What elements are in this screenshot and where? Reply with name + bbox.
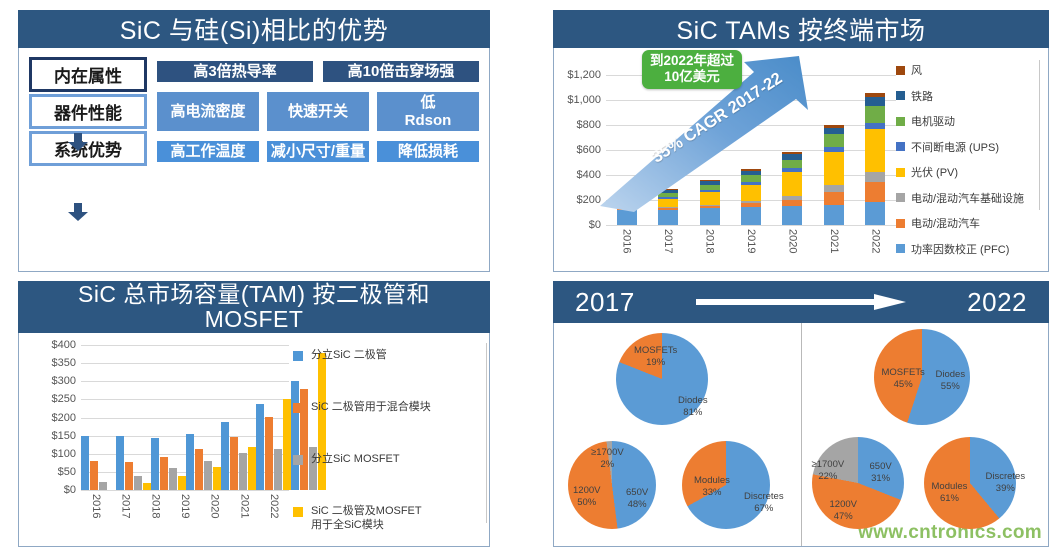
legend-label: SiC 二极管用于混合模块	[311, 401, 431, 415]
panel-market-split-pies: 2017 2022 Diodes 81%MOSFETs 19%650V 48%1…	[553, 281, 1049, 547]
x-axis-tick-label: 2017	[120, 494, 132, 518]
pie-slice-label: 1200V 47%	[830, 499, 857, 523]
pies-2022: www.cntronics.com Diodes 55%MOSFETs 45%6…	[801, 323, 1049, 546]
legend-swatch	[293, 455, 303, 465]
legend-item: 不间断电源 (UPS)	[896, 139, 1044, 155]
legend-label: 电机驱动	[911, 113, 955, 129]
right-arrow-icon	[696, 294, 906, 310]
legend-swatch	[896, 66, 905, 75]
attr-row-intrinsic: 高3倍热导率 高10倍击穿场强	[157, 56, 479, 87]
y-axis-tick-label: $250	[52, 393, 76, 405]
legend-item: SiC 二极管及MOSFET 用于全SiC模块	[293, 505, 483, 557]
legend-swatch	[896, 244, 905, 253]
legend-item: 电动/混动汽车	[896, 215, 1044, 231]
legend-swatch	[896, 193, 905, 202]
y-axis-tick-label: $150	[52, 430, 76, 442]
stacked-bar-chart: $0$200$400$600$800$1,000$1,2002016201720…	[554, 48, 1048, 271]
legend-swatch	[896, 117, 905, 126]
x-axis-tick-label: 2016	[621, 229, 633, 253]
attr-box-low-rdson: 低 Rdson	[377, 92, 479, 131]
chart-legend: 分立SiC 二极管SiC 二极管用于混合模块分立SiC MOSFETSiC 二极…	[293, 349, 483, 557]
y-axis-tick-label: $800	[577, 119, 601, 131]
pies-2017: Diodes 81%MOSFETs 19%650V 48%1200V 50%≥1…	[554, 323, 801, 546]
y-axis-tick-label: $1,000	[567, 94, 601, 106]
attr-row-system: 高工作温度 减小尺寸/重量 降低损耗	[157, 136, 479, 167]
panel-tam-endmarket-title: SiC TAMs 按终端市场	[553, 10, 1049, 48]
x-axis-tick-label: 2022	[268, 494, 280, 518]
y-axis-tick-label: $50	[58, 466, 76, 478]
attr-box-breakdown-field: 高10倍击穿场强	[323, 61, 479, 82]
panel-tam-by-end-market: SiC TAMs 按终端市场 $0$200$400$600$800$1,000$…	[553, 10, 1049, 272]
watermark: www.cntronics.com	[858, 522, 1042, 544]
pie-slice-label: MOSFETs 19%	[634, 345, 677, 369]
callout-badge: 到2022年超过 10亿美元	[642, 50, 742, 89]
legend-item: 电机驱动	[896, 113, 1044, 129]
gridline	[606, 225, 896, 226]
stage-box-device: 器件性能	[29, 94, 147, 129]
attr-box-lower-loss: 降低损耗	[377, 141, 479, 162]
plot-area: $0$50$100$150$200$250$300$350$4002016201…	[81, 345, 289, 490]
legend-label: 风	[911, 62, 922, 78]
y-axis-tick-label: $350	[52, 357, 76, 369]
legend-swatch	[293, 351, 303, 361]
y-axis-tick-label: $0	[589, 219, 601, 231]
slide-collage: SiC 与硅(Si)相比的优势 内在属性 器件性能 系统优势 高3倍	[0, 0, 1061, 557]
legend-swatch	[896, 219, 905, 228]
legend-label: 不间断电源 (UPS)	[911, 139, 999, 155]
panel-pies-body: Diodes 81%MOSFETs 19%650V 48%1200V 50%≥1…	[553, 323, 1049, 547]
pie-slice-label: Discretes 67%	[744, 491, 784, 515]
down-arrow-icon	[67, 133, 89, 151]
y-axis-tick-label: $200	[577, 194, 601, 206]
pie-slice-label: Discretes 39%	[986, 471, 1026, 495]
y-axis-tick-label: $600	[577, 144, 601, 156]
attributes-column: 高3倍热导率 高10倍击穿场强 高电流密度 快速开关 低 Rdson 高工作温度…	[157, 56, 479, 167]
x-axis-tick-label: 2016	[90, 494, 102, 518]
stage-cell-1: 内在属性	[29, 56, 147, 93]
legend-item: 分立SiC 二极管	[293, 349, 483, 401]
y-axis-tick-label: $400	[577, 169, 601, 181]
legend-label: 电动/混动汽车	[911, 215, 980, 231]
year-label-right: 2022	[967, 287, 1027, 318]
legend-label: 分立SiC 二极管	[311, 349, 387, 363]
pie-slice-label: 1200V 50%	[573, 485, 600, 509]
legend-item: 铁路	[896, 88, 1044, 104]
legend-item: 分立SiC MOSFET	[293, 453, 483, 505]
panel-tam-diode-mosfet: SiC 总市场容量(TAM) 按二极管和 MOSFET $0$50$100$15…	[18, 281, 490, 547]
legend-swatch	[293, 507, 303, 517]
panel-sic-advantages: SiC 与硅(Si)相比的优势 内在属性 器件性能 系统优势 高3倍	[18, 10, 490, 272]
x-axis-tick-label: 2017	[662, 229, 674, 253]
pie-slice-label: Modules 61%	[932, 481, 968, 505]
pie-slice-label: Modules 33%	[694, 475, 730, 499]
x-axis-tick-label: 2020	[209, 494, 221, 518]
attr-box-thermal-conductivity: 高3倍热导率	[157, 61, 313, 82]
legend-item: 风	[896, 62, 1044, 78]
pie-slice-label: Diodes 55%	[936, 369, 966, 393]
pie-slice-label: 650V 31%	[870, 461, 892, 485]
attr-box-size-weight: 减小尺寸/重量	[267, 141, 369, 162]
y-axis-tick-label: $400	[52, 339, 76, 351]
panel-tam-diode-title: SiC 总市场容量(TAM) 按二极管和 MOSFET	[18, 281, 490, 333]
stage-box-intrinsic: 内在属性	[29, 57, 147, 92]
legend-label: 电动/混动汽车基础设施	[911, 190, 1024, 206]
attr-row-device: 高电流密度 快速开关 低 Rdson	[157, 87, 479, 136]
legend-swatch	[896, 168, 905, 177]
panel-advantages-title: SiC 与硅(Si)相比的优势	[18, 10, 490, 48]
legend-label: 分立SiC MOSFET	[311, 453, 400, 467]
legend-item: 电动/混动汽车基础设施	[896, 190, 1044, 206]
x-axis: 2016201720182019202020212022	[81, 345, 289, 490]
legend-item: SiC 二极管用于混合模块	[293, 401, 483, 453]
panel-tam-diode-body: $0$50$100$150$200$250$300$350$4002016201…	[18, 333, 490, 547]
pie-slice-label: MOSFETs 45%	[882, 367, 925, 391]
legend-label: 光伏 (PV)	[911, 164, 958, 180]
y-axis-tick-label: $200	[52, 412, 76, 424]
attr-box-current-density: 高电流密度	[157, 92, 259, 131]
pie-slice-label: ≥1700V 22%	[812, 459, 845, 483]
legend-item: 功率因数校正 (PFC)	[896, 241, 1044, 257]
attr-box-fast-switching: 快速开关	[267, 92, 369, 131]
y-axis-tick-label: $0	[64, 484, 76, 496]
x-axis-tick-label: 2021	[238, 494, 250, 518]
panel-tam-endmarket-body: $0$200$400$600$800$1,000$1,2002016201720…	[553, 48, 1049, 272]
pie-slice-label: ≥1700V 2%	[591, 447, 624, 471]
gridline	[81, 490, 289, 491]
legend-swatch	[896, 142, 905, 151]
x-axis-tick-label: 2020	[786, 229, 798, 253]
legend-label: SiC 二极管及MOSFET 用于全SiC模块	[311, 505, 422, 533]
x-axis-tick-label: 2021	[828, 229, 840, 253]
legend-swatch	[293, 403, 303, 413]
x-axis-tick-label: 2018	[704, 229, 716, 253]
stage-cell-2: 器件性能	[29, 93, 147, 130]
legend-divider	[486, 343, 487, 523]
legend-label: 铁路	[911, 88, 933, 104]
x-axis-tick-label: 2018	[149, 494, 161, 518]
pie-slice-label: 650V 48%	[626, 487, 648, 511]
y-axis-tick-label: $1,200	[567, 69, 601, 81]
attr-box-high-temperature: 高工作温度	[157, 141, 259, 162]
panel-advantages-body: 内在属性 器件性能 系统优势 高3倍热导率 高10倍击穿场强 高电	[18, 48, 490, 272]
y-axis-tick-label: $100	[52, 448, 76, 460]
x-axis-tick-label: 2019	[745, 229, 757, 253]
legend-item: 光伏 (PV)	[896, 164, 1044, 180]
year-label-left: 2017	[575, 287, 635, 318]
down-arrow-icon	[67, 203, 89, 221]
pie-slice-label: Diodes 81%	[678, 395, 708, 419]
chart-legend: 风铁路电机驱动不间断电源 (UPS)光伏 (PV)电动/混动汽车基础设施电动/混…	[896, 62, 1044, 266]
x-axis-tick-label: 2019	[179, 494, 191, 518]
x-axis-tick-label: 2022	[869, 229, 881, 253]
legend-label: 功率因数校正 (PFC)	[911, 241, 1009, 257]
panel-pies-header: 2017 2022	[553, 281, 1049, 323]
y-axis-tick-label: $300	[52, 375, 76, 387]
legend-swatch	[896, 91, 905, 100]
